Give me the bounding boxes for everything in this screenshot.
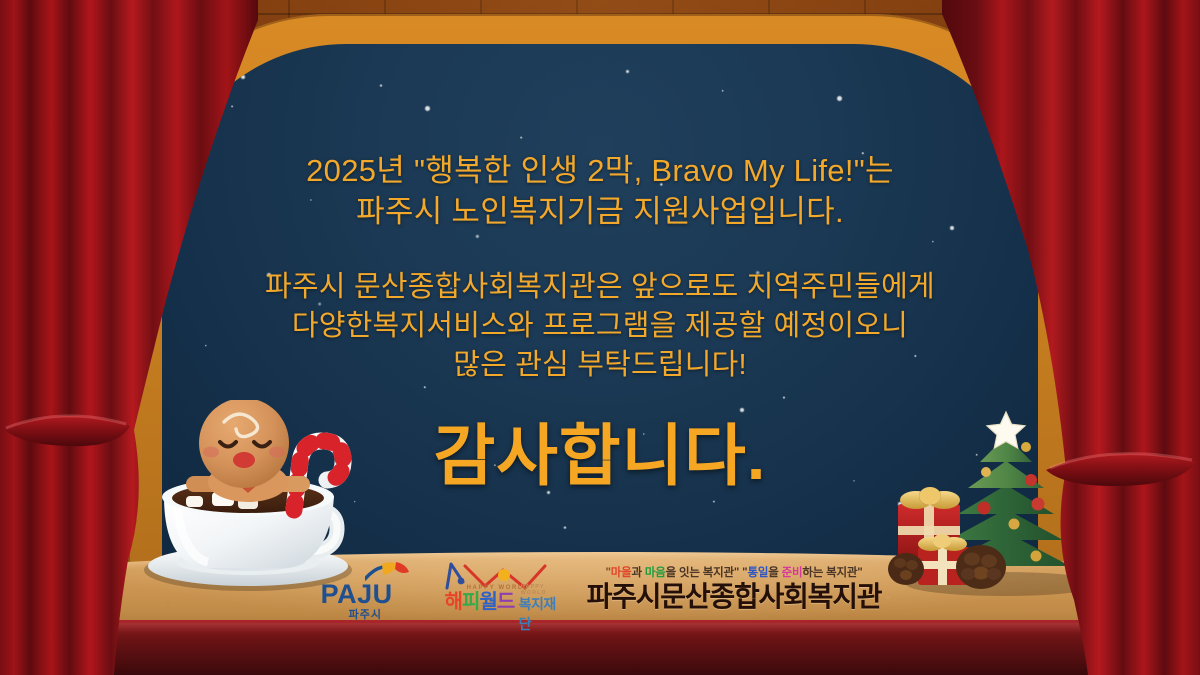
paragraph-two-line-2: 다양한복지서비스와 프로그램을 제공할 예정이오니	[162, 307, 1038, 346]
paragraph-one-line-2: 파주시 노인복지기금 지원사업입니다.	[162, 191, 1038, 232]
hw-char-4: 드	[497, 591, 514, 613]
ornament-gold	[1021, 442, 1031, 452]
mouth	[233, 452, 255, 468]
tagline-part: 마음	[645, 567, 666, 579]
ornament-red	[1025, 474, 1037, 486]
paju-subtitle: 파주시	[349, 606, 382, 622]
happy-world-foundation-logo[interactable]: HAPPY WORLD 해피월드 HAPPY WORLD 복지재단	[441, 560, 561, 618]
paragraph-one: 2025년 "행복한 인생 2막, Bravo My Life!"는 파주시 노…	[162, 150, 1038, 232]
gift-ribbon	[898, 526, 960, 535]
happy-world-wordmark: 해피월드	[445, 591, 515, 613]
snow-flake	[626, 70, 629, 73]
welfare-center-title: 파주시문산종합사회복지관	[587, 581, 882, 613]
snow-flake	[425, 106, 430, 111]
slide-canvas: 2025년 "행복한 인생 2막, Bravo My Life!"는 파주시 노…	[0, 0, 1200, 675]
welfare-center-brand: "마을과 마음을 잇는 복지관" "통일을 준비하는 복지관" 파주시문산종합사…	[587, 566, 882, 613]
ornament-red	[1032, 498, 1045, 511]
table-front-edge	[0, 620, 1200, 675]
paragraph-one-line-1: 2025년 "행복한 인생 2막, Bravo My Life!"는	[162, 150, 1038, 191]
ornament-gold	[1009, 519, 1020, 530]
tagline-part: 마을	[611, 567, 632, 579]
marshmallow	[186, 496, 203, 507]
cheek-right	[269, 447, 285, 458]
tagline-part: 을 잇는 복지관" "	[666, 567, 748, 579]
tagline-part: 과	[632, 567, 645, 579]
hw-char-1: 해	[445, 591, 462, 613]
hw-char-2: 피	[462, 591, 479, 613]
ornament-red	[978, 502, 991, 515]
happy-world-foundation-label: 복지재단	[519, 594, 561, 634]
paragraph-two-line-3: 많은 관심 부탁드립니다!	[162, 346, 1038, 385]
tagline-part: 하는 복지관"	[802, 567, 862, 579]
snow-flake	[241, 75, 245, 79]
paragraph-two-line-1: 파주시 문산종합사회복지관은 앞으로도 지역주민들에게	[162, 268, 1038, 307]
tagline-part: 을	[768, 567, 781, 579]
ornament-gold	[981, 467, 991, 477]
hw-char-3: 월	[479, 591, 496, 613]
welfare-center-tagline: "마을과 마음을 잇는 복지관" "통일을 준비하는 복지관"	[605, 566, 862, 580]
paju-city-logo[interactable]: PAJU 파주시	[319, 560, 415, 618]
paragraph-two: 파주시 문산종합사회복지관은 앞으로도 지역주민들에게 다양한복지서비스와 프로…	[162, 268, 1038, 385]
snow-flake	[837, 96, 842, 101]
tagline-part: 통일	[747, 567, 768, 579]
cheek-left	[203, 447, 219, 458]
footer-logo-bar: PAJU 파주시 HAPPY WORLD 해피월드 HAPPY WORLD 복지…	[0, 552, 1200, 626]
tagline-part: 준비	[782, 567, 803, 579]
